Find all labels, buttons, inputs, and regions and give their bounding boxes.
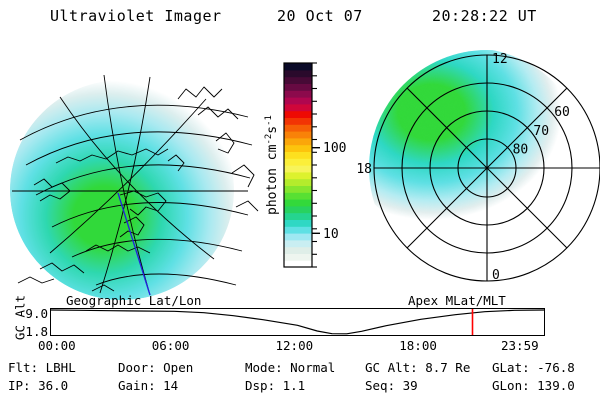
timeline-xtick: 23:59 — [501, 338, 539, 353]
geographic-map-svg[interactable] — [0, 45, 268, 293]
mlt-dial-svg[interactable]: 121860 607080 — [378, 45, 600, 293]
geo-panel-title: Geographic Lat/Lon — [66, 293, 201, 308]
colorbar-ticks — [312, 63, 317, 267]
status-gain: Gain: 14 — [118, 378, 178, 393]
svg-text:80: 80 — [513, 143, 529, 158]
svg-text:60: 60 — [554, 105, 570, 120]
status-glat: GLat: -76.8 — [492, 360, 575, 375]
timeline-xtick: 12:00 — [276, 338, 314, 353]
status-ip: IP: 36.0 — [8, 378, 68, 393]
colorbar-gradient — [284, 63, 312, 268]
uvi-display: Ultraviolet Imager 20 Oct 07 20:28:22 UT — [0, 0, 600, 400]
status-flt: Flt: LBHL — [8, 360, 76, 375]
svg-text:18: 18 — [356, 162, 372, 177]
status-panel: Flt: LBHL Door: Open Mode: Normal GC Alt… — [0, 360, 600, 396]
timeline-xtick: 18:00 — [399, 338, 437, 353]
header-date: 20 Oct 07 — [277, 7, 363, 25]
geographic-map-panel[interactable] — [0, 45, 268, 293]
status-glon: GLon: 139.0 — [492, 378, 575, 393]
timeline-ytick-high: 9.0 — [20, 306, 48, 321]
timeline-xtick: 06:00 — [152, 338, 190, 353]
timeline-altitude-curve — [51, 309, 544, 335]
status-seq: Seq: 39 — [365, 378, 418, 393]
svg-text:12: 12 — [492, 52, 508, 67]
svg-text:100: 100 — [323, 141, 346, 156]
aurora-emission-mlt — [348, 47, 580, 239]
status-dsp: Dsp: 1.1 — [245, 378, 305, 393]
mlt-dial-panel[interactable]: 121860 607080 — [378, 45, 600, 293]
svg-text:70: 70 — [533, 124, 549, 139]
timeline-panel[interactable]: Geographic Lat/Lon Apex MLat/MLT GC Alt … — [0, 293, 600, 355]
mlt-grid — [374, 55, 600, 281]
svg-text:0: 0 — [492, 268, 500, 283]
header-time: 20:28:22 UT — [432, 7, 537, 25]
svg-text:10: 10 — [323, 227, 339, 242]
timeline-ytick-low: 1.8 — [20, 324, 48, 339]
page-title: Ultraviolet Imager — [50, 7, 222, 25]
status-door: Door: Open — [118, 360, 193, 375]
status-row-2: IP: 36.0 Gain: 14 Dsp: 1.1 Seq: 39 GLon:… — [0, 378, 600, 396]
status-mode: Mode: Normal — [245, 360, 335, 375]
colorbar-axis-label: photon cm-2s-1 — [264, 115, 280, 215]
status-gc-alt: GC Alt: 8.7 Re — [365, 360, 470, 375]
timeline-xtick: 00:00 — [38, 338, 76, 353]
mlt-panel-title: Apex MLat/MLT — [408, 293, 506, 308]
status-row-1: Flt: LBHL Door: Open Mode: Normal GC Alt… — [0, 360, 600, 378]
colorbar-tick-labels: 10010 — [312, 141, 346, 242]
timeline-plot-box[interactable] — [50, 308, 545, 336]
